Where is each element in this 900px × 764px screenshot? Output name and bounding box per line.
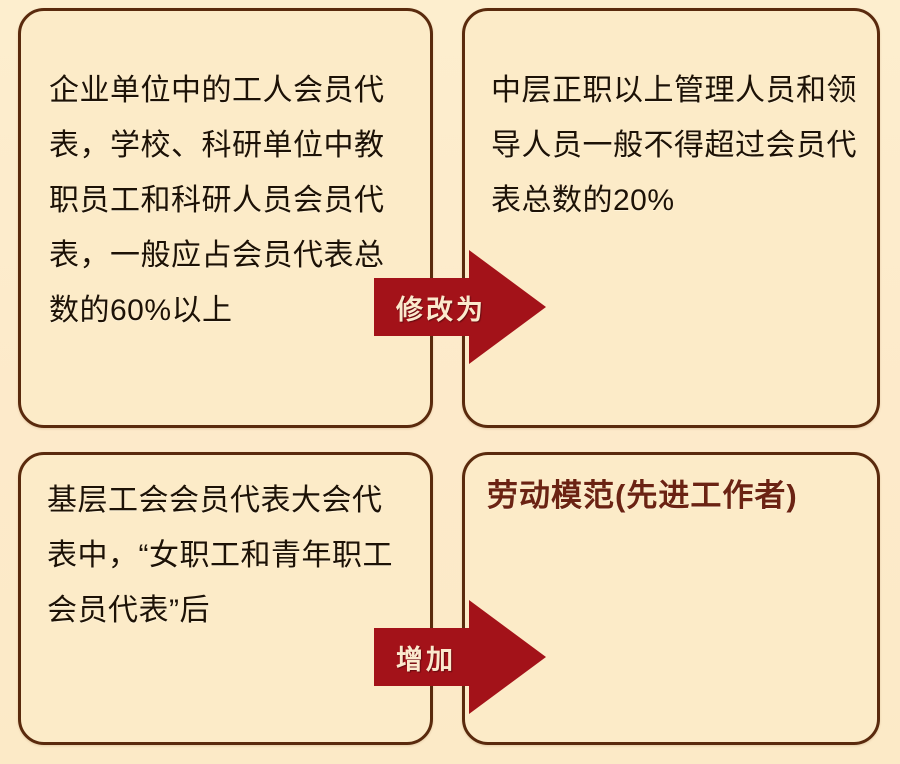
added-clause-2-heading: 劳动模范(先进工作者) — [487, 471, 798, 521]
original-clause-2-text: 基层工会会员代表大会代表中，“女职工和青年职工会员代表”后 — [47, 473, 410, 638]
original-clause-1-text: 企业单位中的工人会员代表，学校、科研单位中教职员工和科研人员会员代表，一般应占会… — [49, 63, 410, 338]
right-arrow-icon — [374, 248, 546, 366]
revised-clause-1-text: 中层正职以上管理人员和领导人员一般不得超过会员代表总数的20% — [491, 63, 857, 228]
arrow-add: 增加 — [374, 598, 546, 716]
panel-original-clause-1: 企业单位中的工人会员代表，学校、科研单位中教职员工和科研人员会员代表，一般应占会… — [18, 8, 433, 428]
right-arrow-icon — [374, 598, 546, 716]
panel-original-clause-2: 基层工会会员代表大会代表中，“女职工和青年职工会员代表”后 — [18, 452, 433, 745]
arrow-revise: 修改为 — [374, 248, 546, 366]
diagram-canvas: 企业单位中的工人会员代表，学校、科研单位中教职员工和科研人员会员代表，一般应占会… — [0, 0, 900, 764]
